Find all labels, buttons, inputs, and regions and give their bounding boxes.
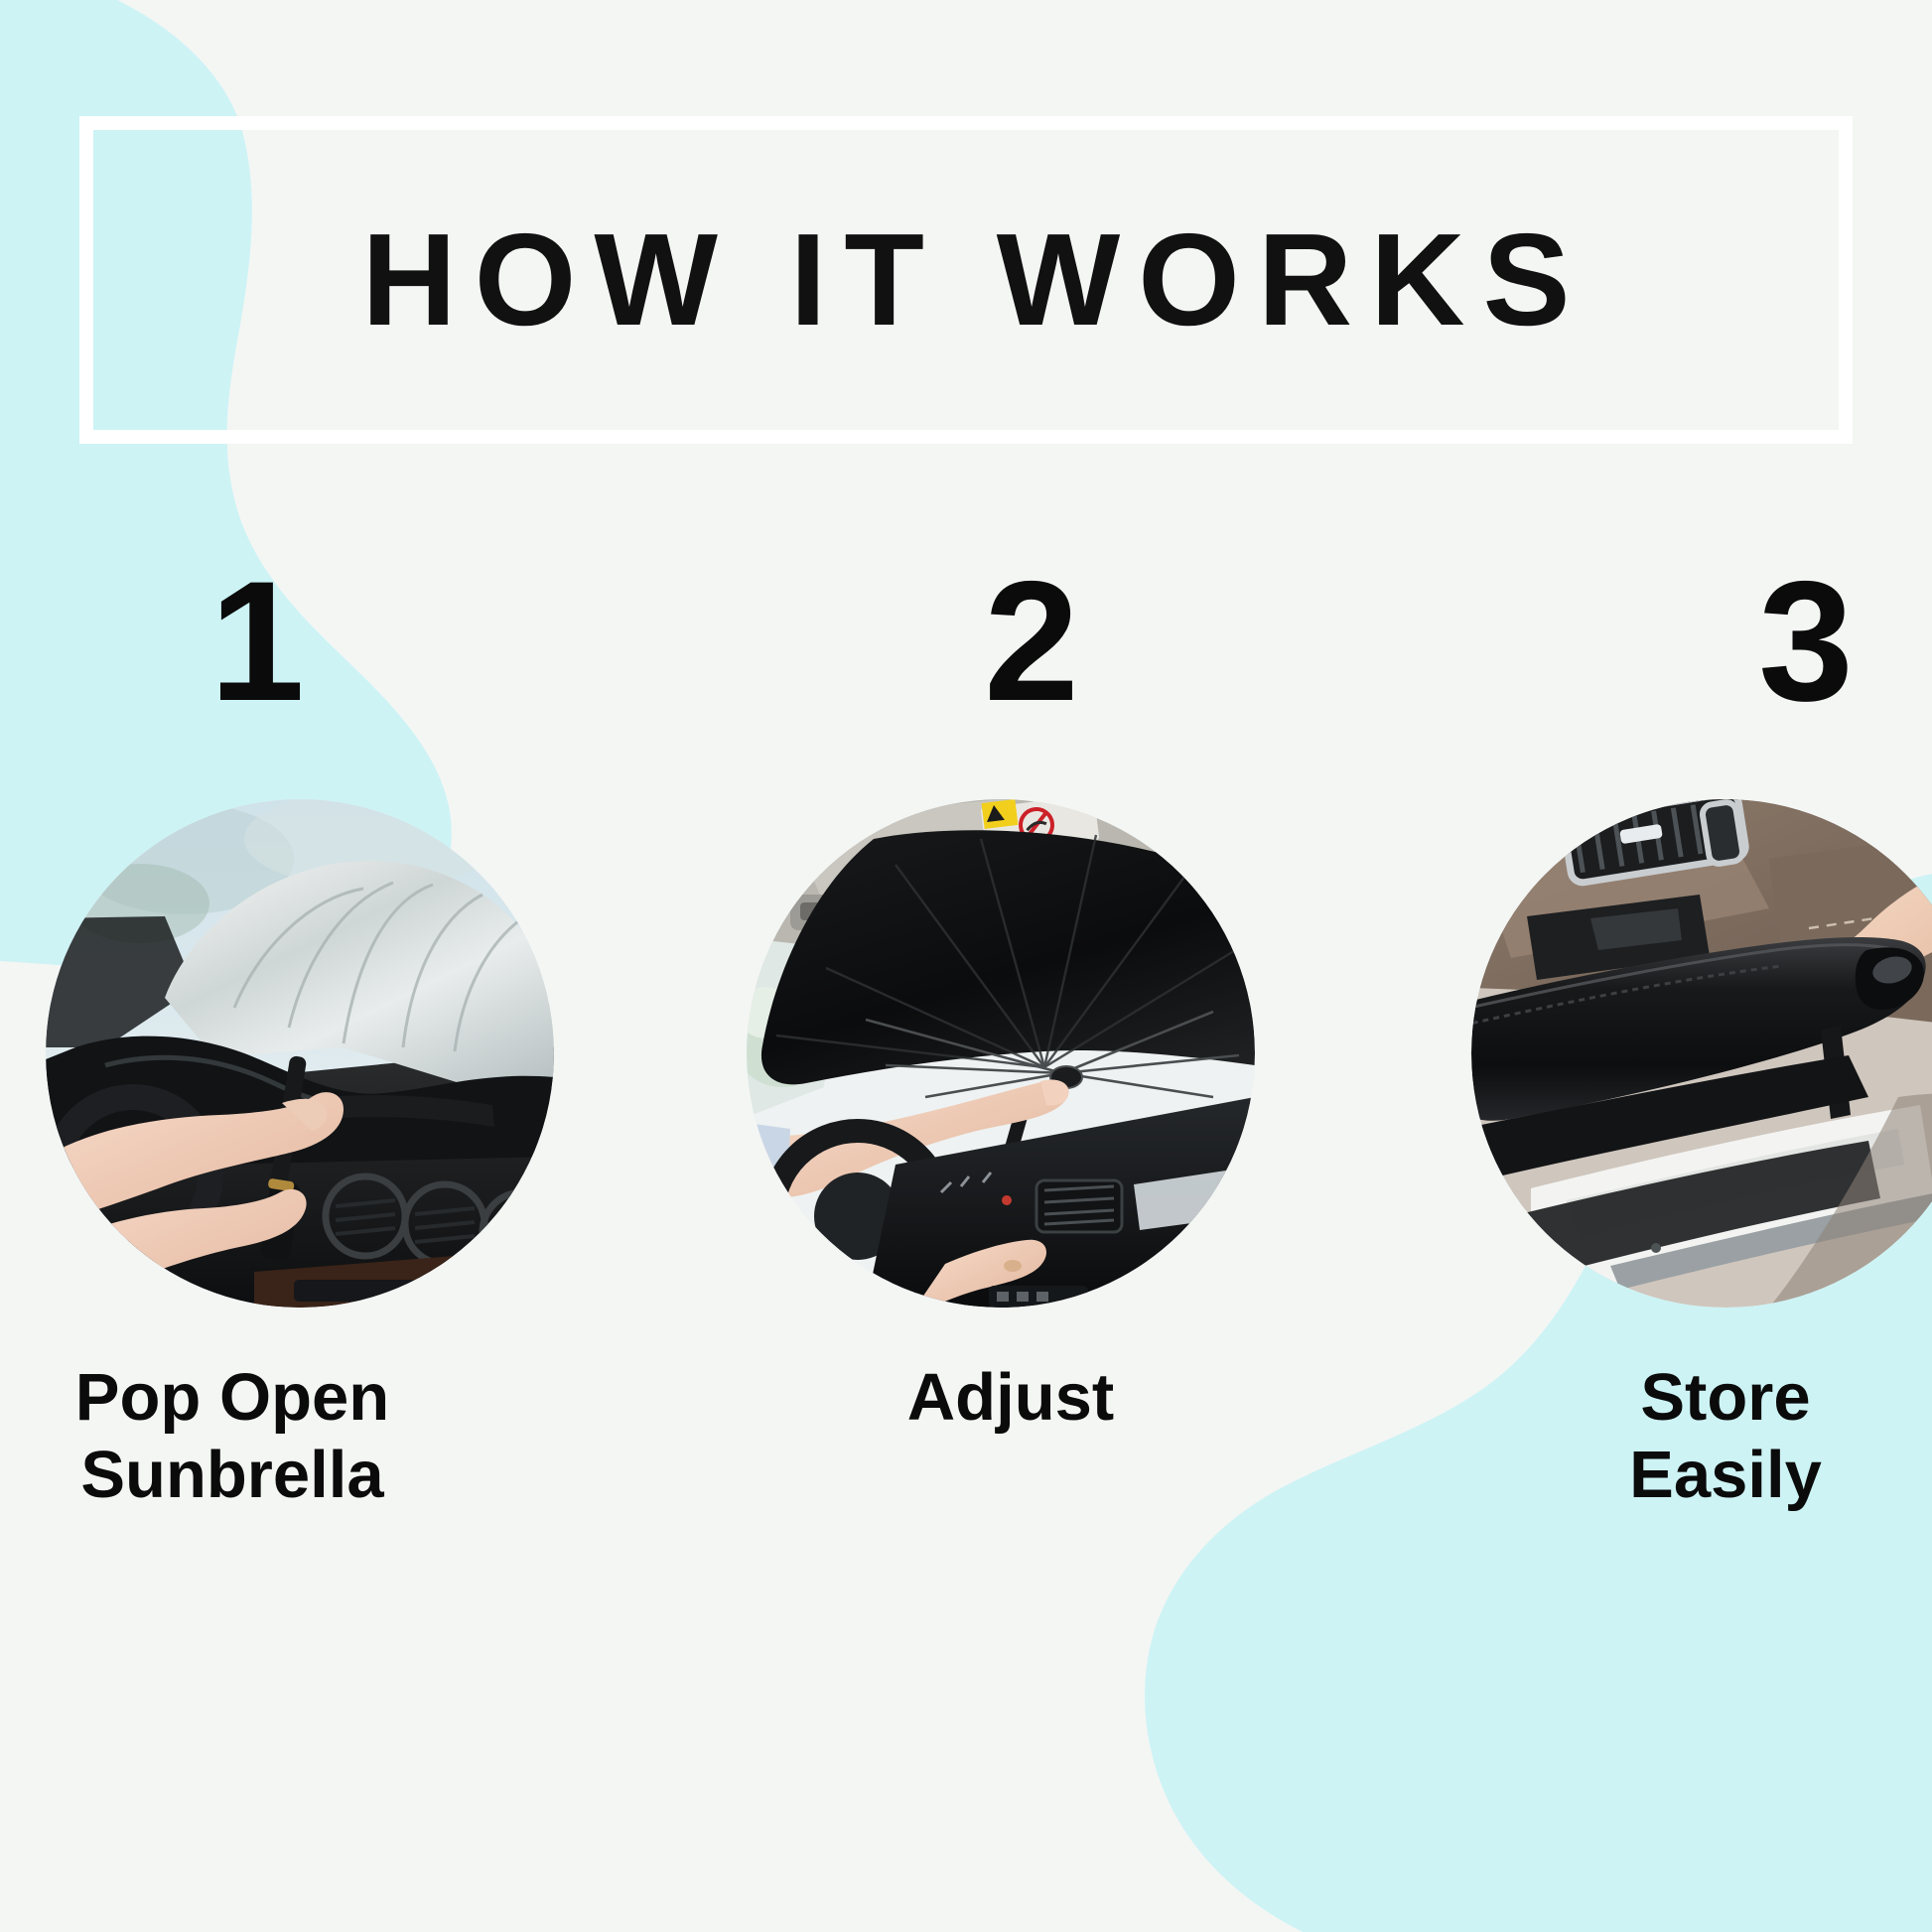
title-frame: HOW IT WORKS <box>79 116 1853 444</box>
step-2: 2 <box>643 556 1287 1515</box>
photo-store-easily <box>1471 799 1932 1308</box>
steps-row: 1 <box>0 556 1932 1515</box>
photo-adjust-sunbrella <box>747 799 1255 1308</box>
page-title: HOW IT WORKS <box>361 214 1587 345</box>
step-2-photo <box>747 799 1255 1308</box>
step-2-label: Adjust <box>907 1359 1114 1437</box>
how-it-works-poster: HOW IT WORKS 1 <box>0 0 1932 1932</box>
step-1-photo <box>46 799 554 1308</box>
step-1-number: 1 <box>209 556 303 755</box>
step-3-label: Store Easily <box>1629 1359 1822 1515</box>
step-2-number: 2 <box>984 556 1077 755</box>
step-1-label: Pop Open Sunbrella <box>75 1359 389 1515</box>
step-1: 1 <box>0 556 643 1515</box>
step-3-photo <box>1471 799 1932 1308</box>
step-3: 3 <box>1289 556 1932 1515</box>
photo-pop-open-sunbrella <box>46 799 554 1308</box>
step-3-number: 3 <box>1758 556 1852 755</box>
